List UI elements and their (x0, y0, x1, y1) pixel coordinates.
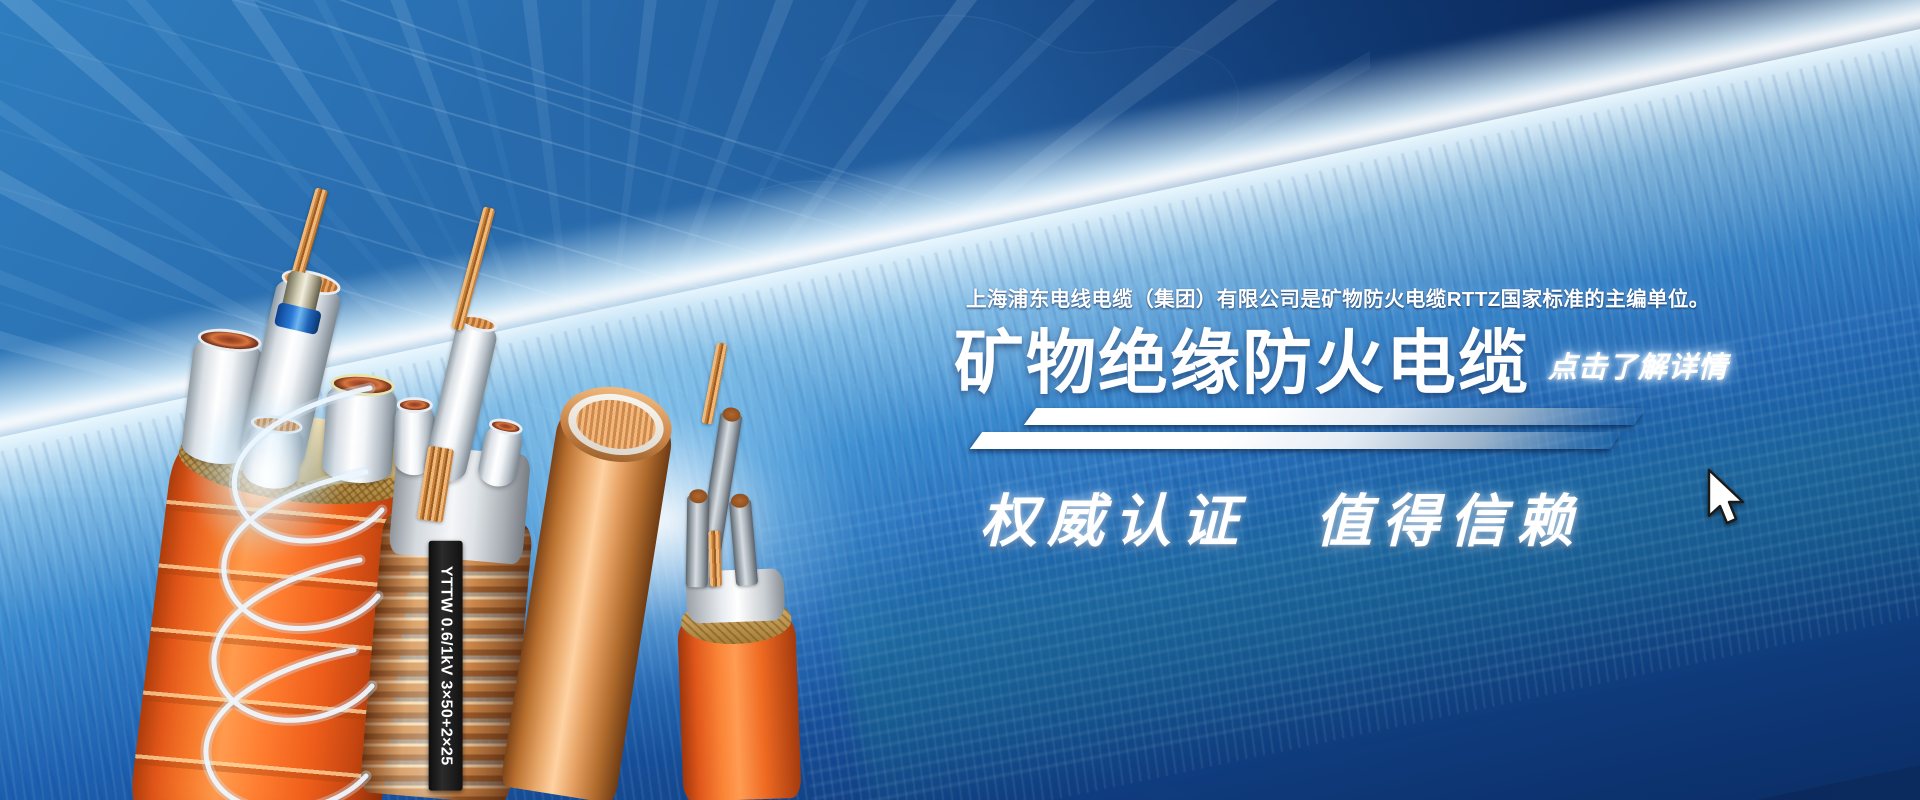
cable-steel-core (686, 495, 710, 587)
cable-spec-label: YTTW 0.6/1kV 3×50+2×25 (429, 541, 463, 791)
divider-bar-top (1024, 408, 1646, 425)
cable-core-tip (721, 406, 741, 423)
promo-banner: YTTW 0.6/1kV 3×50+2×25 (0, 0, 1920, 800)
banner-copy: 上海浦东电线电缆（集团）有限公司是矿物防火电缆RTTZ国家标准的主编单位。 矿物… (960, 282, 1860, 558)
cable-core-tip (396, 397, 433, 414)
banner-slogan: 权威认证 值得信赖 (980, 476, 1860, 558)
cable-spec-label-text: YTTW 0.6/1kV 3×50+2×25 (437, 566, 455, 766)
learn-more-link[interactable]: 点击了解详情 (1548, 344, 1728, 386)
cable-core-tip (730, 493, 750, 509)
banner-headline: 矿物绝缘防火电缆 (954, 328, 1530, 398)
cable-orange-small-sheath (677, 618, 801, 800)
cable-core-tip (330, 372, 396, 398)
divider-bar-bottom (970, 432, 1622, 449)
cable-core-earth (241, 419, 305, 491)
cable-core-tip (487, 416, 524, 437)
cable-core-tip (689, 489, 708, 503)
cable-core-insulated (321, 381, 398, 486)
decorative-divider-bars (880, 408, 1610, 466)
banner-tagline: 上海浦东电线电缆（集团）有限公司是矿物防火电缆RTTZ国家标准的主编单位。 (966, 282, 1860, 312)
cable-conductor-strand (708, 530, 722, 586)
cable-core-tip (196, 326, 263, 356)
headline-row: 矿物绝缘防火电缆 点击了解详情 (954, 328, 1860, 398)
cable-orange-small (672, 468, 801, 800)
cable-product-photo: YTTW 0.6/1kV 3×50+2×25 (0, 0, 900, 800)
cable-conductor-strand (451, 206, 495, 331)
